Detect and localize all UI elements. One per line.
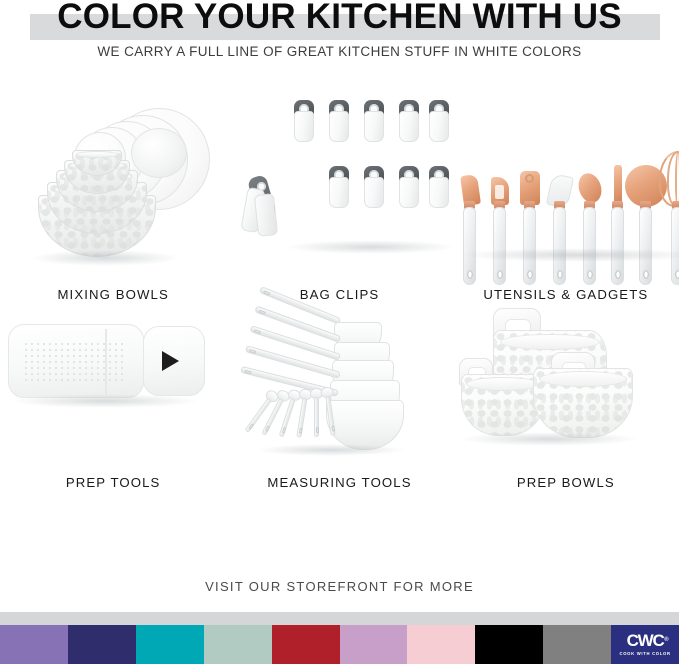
product-label-prep-bowls: PREP BOWLS xyxy=(517,473,615,490)
product-cell-bag-clips[interactable]: BAG CLIPS xyxy=(226,90,452,302)
product-cell-mixing-bowls[interactable]: MIXING BOWLS xyxy=(0,90,226,302)
footer-divider-strip xyxy=(0,612,679,625)
infographic-page: COLOR YOUR KITCHEN WITH US WE CARRY A FU… xyxy=(0,0,679,664)
logo-mark: CWC® xyxy=(627,633,664,649)
product-label-mixing-bowls: MIXING BOWLS xyxy=(57,285,168,302)
storefront-cta[interactable]: VISIT OUR STOREFRONT FOR MORE xyxy=(0,579,679,594)
product-label-bag-clips: BAG CLIPS xyxy=(300,285,380,302)
utensils-image xyxy=(453,90,679,285)
swatch-blush-pink[interactable] xyxy=(407,625,475,664)
brand-logo-cwc[interactable]: CWC® COOK WITH COLOR xyxy=(611,625,679,664)
swatch-teal[interactable] xyxy=(136,625,204,664)
open-bag-clip xyxy=(240,176,284,238)
product-cell-utensils[interactable]: UTENSILS & GADGETS xyxy=(453,90,679,302)
product-cell-prep-tools[interactable]: PREP TOOLS xyxy=(0,302,226,490)
swatch-red[interactable] xyxy=(272,625,340,664)
header: COLOR YOUR KITCHEN WITH US WE CARRY A FU… xyxy=(0,0,679,72)
color-swatch-strip: CWC® COOK WITH COLOR xyxy=(0,625,679,664)
bag-clips-image xyxy=(226,90,452,285)
measuring-tools-image xyxy=(226,302,452,473)
logo-tagline: COOK WITH COLOR xyxy=(620,651,671,656)
swatch-black[interactable] xyxy=(475,625,543,664)
mixing-bowls-image xyxy=(0,90,226,285)
product-grid: MIXING BOWLS xyxy=(0,90,679,490)
logo-mark-text: CWC xyxy=(627,631,664,650)
page-title: COLOR YOUR KITCHEN WITH US xyxy=(0,0,679,36)
product-label-prep-tools: PREP TOOLS xyxy=(66,473,161,490)
product-label-utensils: UTENSILS & GADGETS xyxy=(483,285,648,302)
prep-bowls-image xyxy=(453,302,679,473)
product-label-measuring-tools: MEASURING TOOLS xyxy=(267,473,411,490)
product-cell-measuring-tools[interactable]: MEASURING TOOLS xyxy=(226,302,452,490)
swatch-sage[interactable] xyxy=(204,625,272,664)
logo-trademark-icon: ® xyxy=(664,632,668,648)
swatch-indigo[interactable] xyxy=(68,625,136,664)
page-subtitle: WE CARRY A FULL LINE OF GREAT KITCHEN ST… xyxy=(0,44,679,59)
swatch-gray[interactable] xyxy=(543,625,611,664)
swatch-purple[interactable] xyxy=(0,625,68,664)
swatch-orchid[interactable] xyxy=(340,625,408,664)
prep-tools-image xyxy=(0,302,226,473)
product-cell-prep-bowls[interactable]: PREP BOWLS xyxy=(453,302,679,490)
